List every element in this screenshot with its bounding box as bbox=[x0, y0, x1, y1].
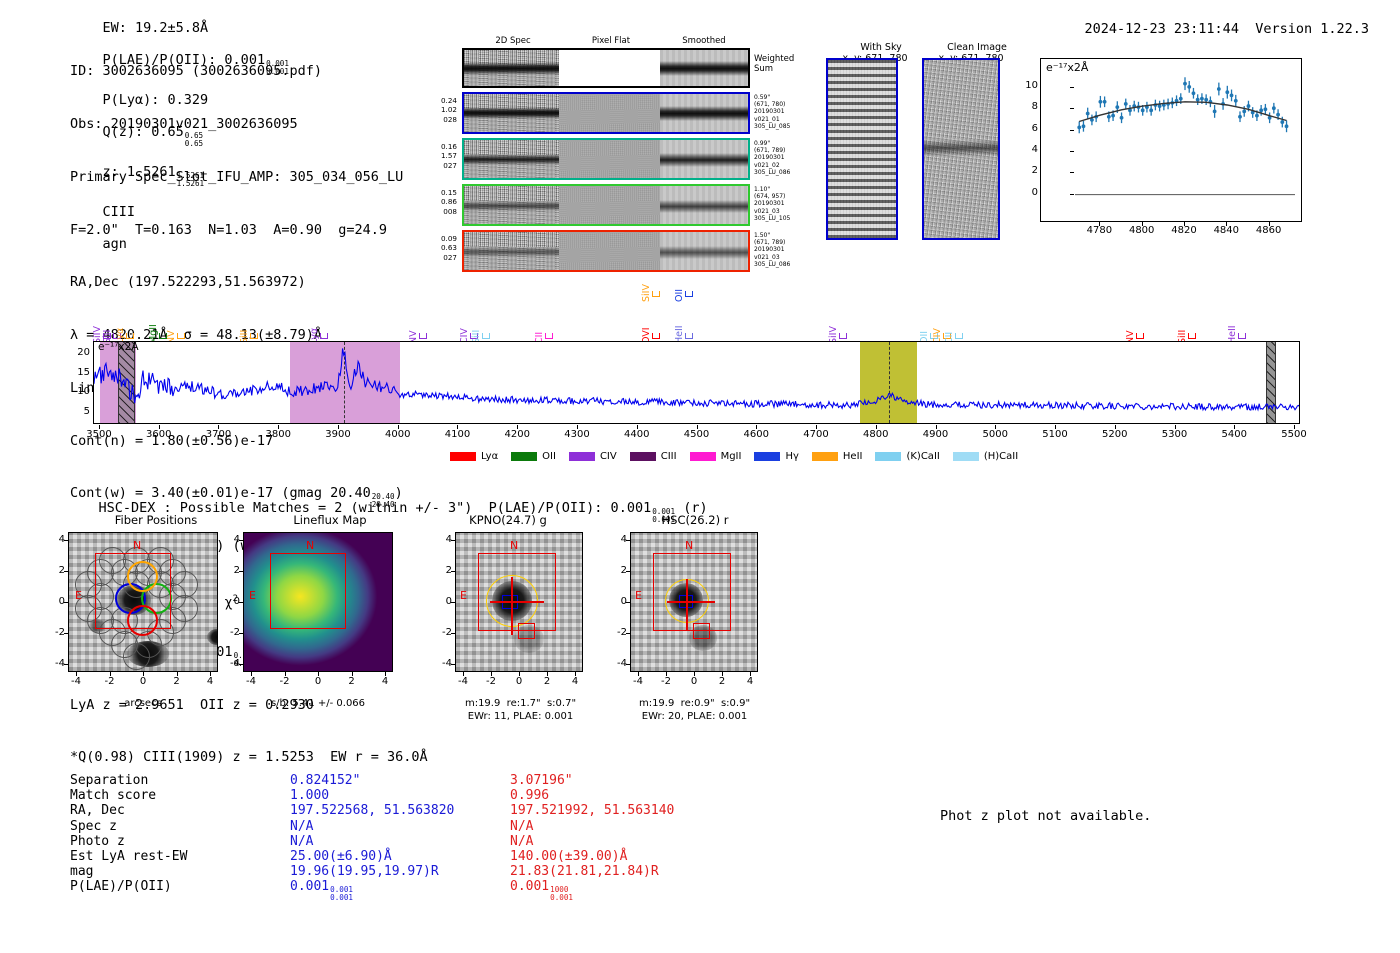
cutout-ytick-mark bbox=[64, 540, 68, 541]
cutout-xtick-mark bbox=[463, 672, 464, 676]
cutout-xtick-mark bbox=[76, 672, 77, 676]
cutout-ytick-mark bbox=[626, 664, 630, 665]
table-row-label: P(LAE)/P(OII) bbox=[70, 879, 172, 894]
cutout-xtick: -4 bbox=[624, 676, 652, 687]
cutout-ytick-mark bbox=[239, 540, 243, 541]
cutout-xtick: 4 bbox=[561, 676, 589, 687]
inset-xtick-mark bbox=[1099, 222, 1100, 226]
cutout-xtick: 0 bbox=[304, 676, 332, 687]
legend-swatch bbox=[690, 452, 716, 461]
cutout-ytick-mark bbox=[64, 664, 68, 665]
legend-label: OII bbox=[542, 451, 556, 462]
cutout-ytick: 0 bbox=[608, 596, 627, 607]
legend-label: MgII bbox=[721, 451, 742, 462]
spectrum-xtick: 5300 bbox=[1153, 429, 1197, 440]
spectrum-xtick-mark bbox=[99, 425, 100, 429]
legend-swatch bbox=[569, 452, 595, 461]
spectrum-xtick: 5000 bbox=[973, 429, 1017, 440]
cutout-ytick: -2 bbox=[608, 627, 627, 638]
table-cell-blue-match: 19.96(19.95,19.97)R bbox=[290, 864, 439, 879]
spectrum-ytick: 5 bbox=[71, 406, 90, 417]
cutout-ytick: 4 bbox=[433, 534, 452, 545]
table-cell-blue-match: 0.824152" bbox=[290, 773, 360, 788]
spectrum-ytick: 15 bbox=[71, 367, 90, 378]
kpno-compass-n: N bbox=[510, 539, 518, 552]
spectrum-xtick: 5500 bbox=[1272, 429, 1316, 440]
table-row-label: Est LyA rest-EW bbox=[70, 849, 187, 864]
spectrum-xtick: 4400 bbox=[615, 429, 659, 440]
cutout-xtick-mark bbox=[352, 672, 353, 676]
fiber-xlabel: arcsecs bbox=[63, 698, 223, 711]
spectrum-xtick: 3700 bbox=[196, 429, 240, 440]
cutout-xtick-mark bbox=[519, 672, 520, 676]
cutout-xtick-mark bbox=[285, 672, 286, 676]
table-cell-blue-match: N/A bbox=[290, 834, 313, 849]
cutout-xtick: 4 bbox=[196, 676, 224, 687]
table-row-label: Photo z bbox=[70, 834, 125, 849]
legend-item: (K)CaII bbox=[875, 451, 939, 462]
inset-ytick: 8 bbox=[1024, 101, 1038, 112]
cutout-ytick-mark bbox=[626, 602, 630, 603]
spectrum-xtick: 4200 bbox=[495, 429, 539, 440]
spectrum-legend: LyαOIICIVCIIIMgIIHγHeII(K)CaII(H)CaII bbox=[450, 446, 1031, 465]
spectrum-annotation: e⁻¹⁷x2Å bbox=[98, 341, 139, 353]
info-id: ID: 3002636095 (3002636095.pdf) bbox=[70, 63, 428, 81]
table-row-label: RA, Dec bbox=[70, 803, 125, 818]
table-cell-blue-match: 0.0010.0010.001 bbox=[290, 879, 353, 902]
cutout-ytick: 4 bbox=[608, 534, 627, 545]
table-cell-red-match: 21.83(21.81,21.84)R bbox=[510, 864, 659, 879]
cutout-xtick: -2 bbox=[652, 676, 680, 687]
cutout-xtick-mark bbox=[210, 672, 211, 676]
weighted-sum-smoothed bbox=[660, 50, 748, 86]
cutout-xtick-mark bbox=[547, 672, 548, 676]
spectrum-xtick: 5100 bbox=[1033, 429, 1077, 440]
cutout-xtick: -4 bbox=[62, 676, 90, 687]
table-cell-range: 10000.001 bbox=[550, 886, 573, 902]
emission-line-bracket bbox=[652, 333, 660, 339]
emission-line-bracket bbox=[419, 333, 427, 339]
table-row-label: Separation bbox=[70, 773, 148, 788]
cutout-xtick-mark bbox=[638, 672, 639, 676]
spectrum-xtick-mark bbox=[816, 425, 817, 429]
cutout-xtick: 2 bbox=[533, 676, 561, 687]
legend-item: (H)CaII bbox=[953, 451, 1018, 462]
cutout-xtick: 2 bbox=[338, 676, 366, 687]
cutout-xtick-mark bbox=[575, 672, 576, 676]
emission-line-bracket bbox=[320, 333, 328, 339]
cutout-ytick: 0 bbox=[46, 596, 65, 607]
inset-xtick: 4820 bbox=[1166, 225, 1202, 236]
legend-label: Hγ bbox=[785, 451, 798, 462]
legend-label: (H)CaII bbox=[984, 451, 1018, 462]
table-cell-red-match: 197.521992, 51.563140 bbox=[510, 803, 674, 818]
hsc-caption: m:19.9 re:0.9" s:0.9" EWr: 20, PLAE: 0.0… bbox=[612, 698, 777, 723]
row4-smoothed bbox=[660, 232, 748, 270]
row1-smoothed bbox=[660, 94, 748, 132]
cutout-ytick: -4 bbox=[221, 658, 240, 669]
table-cell-red-match: 0.00110000.001 bbox=[510, 879, 573, 902]
cutout-ytick-mark bbox=[239, 664, 243, 665]
info-q-line: *Q(0.98) CIII(1909) z = 1.5253 EW r = 36… bbox=[70, 749, 428, 767]
cutout-xtick-mark bbox=[666, 672, 667, 676]
cutout-ytick-mark bbox=[64, 633, 68, 634]
spec2d-col-smoothed: Smoothed bbox=[658, 36, 750, 46]
spectrum-xtick: 4100 bbox=[435, 429, 479, 440]
legend-item: HeII bbox=[812, 451, 863, 462]
cutout-xtick-mark bbox=[750, 672, 751, 676]
row2-2dspec bbox=[464, 140, 559, 178]
spectrum-xtick-mark bbox=[1234, 425, 1235, 429]
legend-item: OII bbox=[511, 451, 556, 462]
lineflux-compass-e: E bbox=[249, 589, 256, 602]
spectrum-xtick-mark bbox=[398, 425, 399, 429]
legend-item: Hγ bbox=[754, 451, 798, 462]
spectrum-xtick: 3600 bbox=[137, 429, 181, 440]
table-cell-blue-match: N/A bbox=[290, 819, 313, 834]
row3-2dspec bbox=[464, 186, 559, 224]
spec2d-col-pixelflat: Pixel Flat bbox=[566, 36, 656, 46]
emission-line-bracket bbox=[1238, 333, 1246, 339]
cutout-xtick: 2 bbox=[163, 676, 191, 687]
cutout-xtick-mark bbox=[491, 672, 492, 676]
inset-xtick: 4780 bbox=[1081, 225, 1117, 236]
clean-image bbox=[922, 58, 1000, 240]
cutout-ytick: -2 bbox=[433, 627, 452, 638]
fiber-positions-title: Fiber Positions bbox=[66, 513, 246, 527]
inset-ytick-mark bbox=[1070, 151, 1074, 152]
row4-2dspec bbox=[464, 232, 559, 270]
cutout-ytick: -4 bbox=[433, 658, 452, 669]
emission-line-bracket bbox=[955, 333, 963, 339]
legend-swatch bbox=[450, 452, 476, 461]
spec2d-row3-left-labels: 0.15 0.86 008 bbox=[423, 188, 457, 216]
cutout-xtick-mark bbox=[110, 672, 111, 676]
row4-pixelflat bbox=[559, 232, 660, 270]
spec2d-row4-left-labels: 0.09 0.63 027 bbox=[423, 234, 457, 262]
row2-smoothed bbox=[660, 140, 748, 178]
table-cell-range: 0.0010.001 bbox=[330, 886, 353, 902]
spectrum-xtick-mark bbox=[1175, 425, 1176, 429]
spectrum-xtick: 4700 bbox=[794, 429, 838, 440]
cutout-ytick: 2 bbox=[221, 565, 240, 576]
table-cell-blue-match: 25.00(±6.90)Å bbox=[290, 849, 392, 864]
spectrum-xtick-mark bbox=[218, 425, 219, 429]
table-cell-red-match: 140.00(±39.00)Å bbox=[510, 849, 627, 864]
spec2d-col-2dspec: 2D Spec bbox=[462, 36, 564, 46]
spectrum-xtick-mark bbox=[517, 425, 518, 429]
cutout-xtick-mark bbox=[143, 672, 144, 676]
spectrum-xtick: 4900 bbox=[914, 429, 958, 440]
kpno-fov-box bbox=[478, 553, 556, 631]
cutout-ytick-mark bbox=[626, 540, 630, 541]
inset-xtick-mark bbox=[1142, 222, 1143, 226]
info-cont-n: Cont(n) = 1.80(±0.56)e-17 bbox=[70, 433, 428, 451]
cutout-ytick-mark bbox=[451, 540, 455, 541]
emission-line-bracket bbox=[482, 333, 490, 339]
inset-ytick: 4 bbox=[1024, 144, 1038, 155]
spectrum-xtick-mark bbox=[1055, 425, 1056, 429]
emission-line-bracket bbox=[1188, 333, 1196, 339]
legend-label: HeII bbox=[843, 451, 863, 462]
emission-line-bracket bbox=[1136, 333, 1144, 339]
table-row-label: mag bbox=[70, 864, 93, 879]
info-radec: RA,Dec (197.522293,51.563972) bbox=[70, 274, 428, 292]
spectrum-xtick-mark bbox=[577, 425, 578, 429]
hsc-compass-n: N bbox=[685, 539, 693, 552]
lineflux-map-image: N E bbox=[243, 532, 393, 672]
inset-ytick-mark bbox=[1070, 130, 1074, 131]
cutout-xtick-mark bbox=[694, 672, 695, 676]
spectrum-xtick-mark bbox=[278, 425, 279, 429]
spec2d-row1-left-labels: 0.24 1.02 028 bbox=[423, 96, 457, 124]
cutout-xtick: 4 bbox=[371, 676, 399, 687]
lineflux-map-title: Lineflux Map bbox=[240, 513, 420, 527]
emission-line-bracket bbox=[839, 333, 847, 339]
cutout-ytick-mark bbox=[239, 633, 243, 634]
emission-line-bracket bbox=[685, 291, 693, 297]
kpno-image: N E bbox=[455, 532, 583, 672]
cutout-xtick-mark bbox=[251, 672, 252, 676]
cutout-ytick: 0 bbox=[221, 596, 240, 607]
table-cell-red-match: N/A bbox=[510, 819, 533, 834]
spec2d-row2-meta: 0.99" (671, 789) 20190301 v021_02 305_LU… bbox=[754, 140, 790, 176]
cutout-ytick: -2 bbox=[221, 627, 240, 638]
hsc-fov-box bbox=[653, 553, 731, 631]
spectrum-xtick-mark bbox=[995, 425, 996, 429]
legend-label: CIV bbox=[600, 451, 617, 462]
row1-pixelflat bbox=[559, 94, 660, 132]
header-timestamp-version: 2024-12-23 23:11:44 Version 1.22.3 bbox=[1052, 5, 1369, 53]
emission-line-bracket bbox=[685, 333, 693, 339]
spectrum-xtick-mark bbox=[159, 425, 160, 429]
spectrum-xtick-mark bbox=[1115, 425, 1116, 429]
spectrum-xtick: 4300 bbox=[555, 429, 599, 440]
hsc-image: N E bbox=[630, 532, 758, 672]
info-primary-spec: Primary Spec_Slot_IFU_AMP: 305_034_056_L… bbox=[70, 169, 428, 187]
inset-ytick: 2 bbox=[1024, 165, 1038, 176]
spectrum-xtick-mark bbox=[936, 425, 937, 429]
emission-line-bracket bbox=[545, 333, 553, 339]
cutout-xtick-mark bbox=[177, 672, 178, 676]
cutout-xtick: 0 bbox=[680, 676, 708, 687]
inset-ytick: 10 bbox=[1024, 80, 1038, 91]
line-profile-chart: e⁻¹⁷x2Å bbox=[1040, 58, 1302, 222]
fiber-compass-n: N bbox=[133, 539, 141, 552]
lineflux-caption: s/b: 5.41 +/- 0.066 bbox=[238, 698, 398, 711]
inset-xtick: 4800 bbox=[1124, 225, 1160, 236]
cutout-ytick: 4 bbox=[46, 534, 65, 545]
spectrum-xtick: 3500 bbox=[77, 429, 121, 440]
inset-ytick: 0 bbox=[1024, 187, 1038, 198]
inset-xtick-mark bbox=[1269, 222, 1270, 226]
cutout-ytick-mark bbox=[451, 633, 455, 634]
cutout-ytick: 2 bbox=[608, 565, 627, 576]
legend-item: Lyα bbox=[450, 451, 498, 462]
legend-label: Lyα bbox=[481, 451, 498, 462]
spectrum-xtick: 5200 bbox=[1093, 429, 1137, 440]
row2-pixelflat bbox=[559, 140, 660, 178]
spectrum-xtick: 4600 bbox=[734, 429, 778, 440]
spectrum-xtick-mark bbox=[1294, 425, 1295, 429]
cutout-ytick-mark bbox=[626, 571, 630, 572]
table-cell-red-match: 3.07196" bbox=[510, 773, 573, 788]
cutout-ytick-mark bbox=[451, 571, 455, 572]
cutout-xtick-mark bbox=[318, 672, 319, 676]
cutout-xtick: -2 bbox=[271, 676, 299, 687]
cutout-ytick-mark bbox=[239, 602, 243, 603]
kpno-second-match-box bbox=[518, 623, 535, 639]
spec2d-row4-meta: 1.50" (671, 789) 20190301 v021_03 305_LU… bbox=[754, 232, 790, 268]
cutout-ytick-mark bbox=[451, 602, 455, 603]
emission-line-label: OII bbox=[674, 289, 685, 302]
row3-smoothed bbox=[660, 186, 748, 224]
table-cell-blue-match: 197.522568, 51.563820 bbox=[290, 803, 454, 818]
legend-swatch bbox=[953, 452, 979, 461]
cutout-ytick: -2 bbox=[46, 627, 65, 638]
cutout-ytick-mark bbox=[239, 571, 243, 572]
emission-line-bracket bbox=[652, 291, 660, 297]
spectrum-ytick: 10 bbox=[71, 386, 90, 397]
table-cell-blue-match: 1.000 bbox=[290, 788, 329, 803]
cutout-ytick-mark bbox=[64, 571, 68, 572]
cutout-ytick: 4 bbox=[221, 534, 240, 545]
inset-ytick-mark bbox=[1070, 194, 1074, 195]
kpno-caption: m:19.9 re:1.7" s:0.7" EWr: 11, PLAE: 0.0… bbox=[438, 698, 603, 723]
lineflux-fov-box bbox=[270, 553, 346, 629]
hsc-compass-e: E bbox=[635, 589, 642, 602]
fiber-compass-e: E bbox=[75, 589, 82, 602]
spectrum-ytick: 20 bbox=[71, 347, 90, 358]
legend-item: CIV bbox=[569, 451, 617, 462]
cutout-ytick-mark bbox=[451, 664, 455, 665]
cutout-xtick: 0 bbox=[505, 676, 533, 687]
legend-item: CIII bbox=[630, 451, 677, 462]
version: Version 1.22.3 bbox=[1255, 21, 1369, 37]
hsc-second-match-box bbox=[693, 623, 710, 639]
weighted-sum-pixelflat bbox=[559, 50, 660, 86]
table-cell-red-match: N/A bbox=[510, 834, 533, 849]
weighted-sum-label: Weighted Sum bbox=[754, 54, 794, 74]
emission-line-bracket bbox=[250, 333, 258, 339]
legend-label: CIII bbox=[661, 451, 677, 462]
cutout-xtick: 2 bbox=[708, 676, 736, 687]
spectrum-xtick: 5400 bbox=[1212, 429, 1256, 440]
spec2d-weighted-sum-row bbox=[462, 48, 750, 88]
kpno-title: KPNO(24.7) g bbox=[418, 513, 598, 527]
spec2d-row2-left-labels: 0.16 1.57 027 bbox=[423, 142, 457, 170]
spectrum-xtick: 3900 bbox=[316, 429, 360, 440]
spectrum-xtick: 3800 bbox=[256, 429, 300, 440]
cutout-xtick: 0 bbox=[129, 676, 157, 687]
legend-swatch bbox=[875, 452, 901, 461]
cutout-xtick-mark bbox=[385, 672, 386, 676]
legend-swatch bbox=[630, 452, 656, 461]
cutout-ytick: 2 bbox=[46, 565, 65, 576]
cutout-ytick-mark bbox=[64, 602, 68, 603]
row1-2dspec bbox=[464, 94, 559, 132]
spectrum-xtick: 4000 bbox=[376, 429, 420, 440]
lineflux-compass-n: N bbox=[306, 539, 314, 552]
cutout-xtick: 4 bbox=[736, 676, 764, 687]
emission-line-bracket bbox=[126, 333, 134, 339]
spectrum-xtick-mark bbox=[457, 425, 458, 429]
emission-line-label: SiIV bbox=[641, 284, 652, 302]
inset-ytick-mark bbox=[1070, 87, 1074, 88]
inset-ytick-mark bbox=[1070, 172, 1074, 173]
table-row-label: Spec z bbox=[70, 819, 117, 834]
cutout-xtick: -2 bbox=[477, 676, 505, 687]
spectrum-xtick-mark bbox=[756, 425, 757, 429]
info-params: F=2.0" T=0.163 N=1.03 A=0.90 g=24.9 bbox=[70, 222, 428, 240]
kpno-compass-e: E bbox=[460, 589, 467, 602]
photz-note: Phot z plot not available. bbox=[940, 808, 1151, 824]
spectrum-axes: e⁻¹⁷x2Å bbox=[93, 341, 1300, 424]
legend-label: (K)CaII bbox=[906, 451, 939, 462]
spectrum-xtick-mark bbox=[637, 425, 638, 429]
table-row-label: Match score bbox=[70, 788, 156, 803]
hsc-title: HSC(26.2) r bbox=[605, 513, 785, 527]
weighted-sum-2dspec bbox=[464, 50, 559, 86]
cutout-ytick: 0 bbox=[433, 596, 452, 607]
table-cell-red-match: 0.996 bbox=[510, 788, 549, 803]
inset-xtick-mark bbox=[1184, 222, 1185, 226]
spectrum-xtick: 4500 bbox=[675, 429, 719, 440]
spectrum-xtick-mark bbox=[338, 425, 339, 429]
inset-ytick-mark bbox=[1070, 108, 1074, 109]
spec2d-row3-meta: 1.10" (674, 957) 20190301 v021_03 305_LU… bbox=[754, 186, 790, 222]
inset-xtick-mark bbox=[1226, 222, 1227, 226]
inset-xtick: 4840 bbox=[1208, 225, 1244, 236]
info-obs: Obs: 20190301v021_3002636095 bbox=[70, 116, 428, 134]
legend-swatch bbox=[812, 452, 838, 461]
spectrum-xtick: 4800 bbox=[854, 429, 898, 440]
legend-swatch bbox=[754, 452, 780, 461]
cutout-xtick-mark bbox=[722, 672, 723, 676]
spectrum-xtick-mark bbox=[697, 425, 698, 429]
fiber-fov-box bbox=[95, 553, 171, 629]
cutout-ytick: -4 bbox=[608, 658, 627, 669]
inset-xtick: 4860 bbox=[1251, 225, 1287, 236]
cutout-xtick: -2 bbox=[96, 676, 124, 687]
cutout-xtick: -4 bbox=[237, 676, 265, 687]
with-sky-image bbox=[826, 58, 898, 240]
cutout-ytick-mark bbox=[626, 633, 630, 634]
line-profile-svg bbox=[1041, 59, 1303, 223]
cutout-ytick: -4 bbox=[46, 658, 65, 669]
spectrum-xtick-mark bbox=[876, 425, 877, 429]
row3-pixelflat bbox=[559, 186, 660, 224]
spec2d-row1-meta: 0.59" (671, 780) 20190301 v021_01 305_LU… bbox=[754, 94, 790, 130]
emission-line-bracket bbox=[177, 333, 185, 339]
legend-item: MgII bbox=[690, 451, 742, 462]
cutout-ytick: 2 bbox=[433, 565, 452, 576]
inset-ytick: 6 bbox=[1024, 123, 1038, 134]
legend-swatch bbox=[511, 452, 537, 461]
cutout-xtick: -4 bbox=[449, 676, 477, 687]
fiber-positions-image: N E bbox=[68, 532, 218, 672]
timestamp: 2024-12-23 23:11:44 bbox=[1085, 21, 1239, 37]
